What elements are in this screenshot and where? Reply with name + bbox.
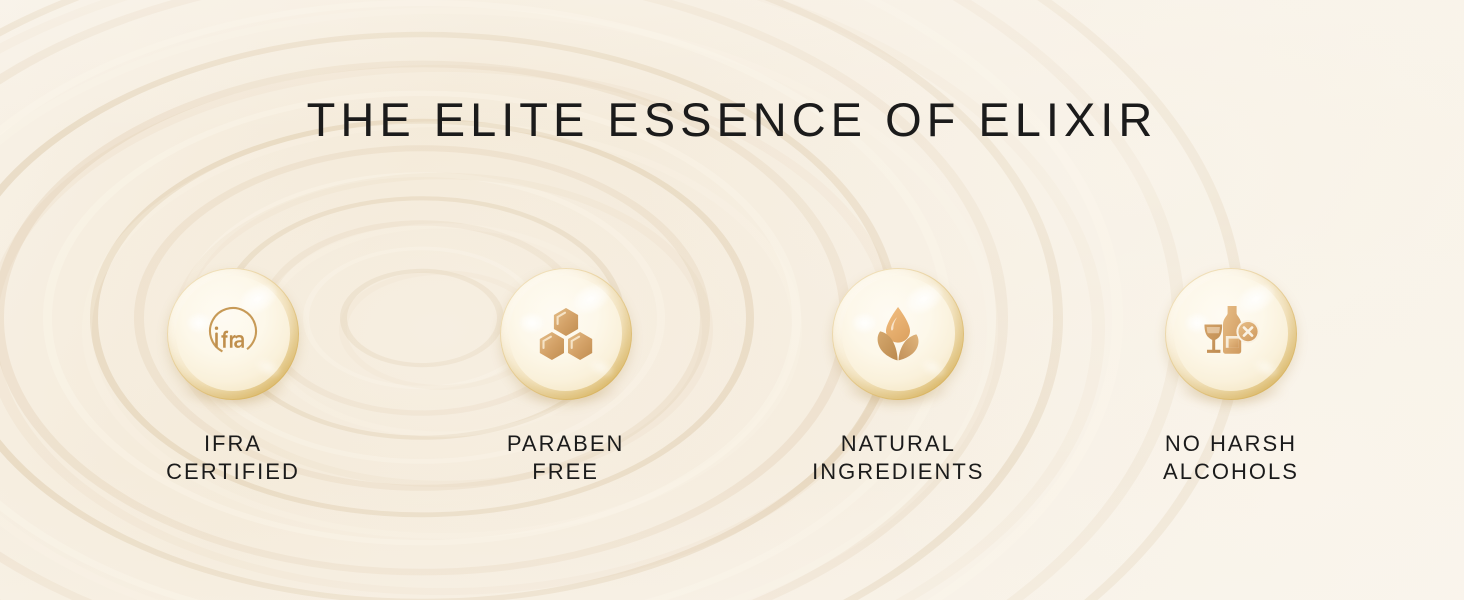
feature-label: PARABEN FREE [507,430,625,486]
feature-item-paraben-free[interactable]: PARABEN FREE [451,268,681,486]
ifra-logo-icon [167,268,299,400]
feature-label: IFRA CERTIFIED [166,430,300,486]
feature-item-no-harsh-alcohols[interactable]: NO HARSH ALCOHOLS [1116,268,1346,486]
feature-item-ifra-certified[interactable]: IFRA CERTIFIED [118,268,348,486]
feature-label: NATURAL INGREDIENTS [812,430,984,486]
feature-label: NO HARSH ALCOHOLS [1163,430,1299,486]
feature-list: IFRA CERTIFIED [118,268,1346,486]
promo-banner: THE ELITE ESSENCE OF ELIXIR [0,0,1464,600]
page-title: THE ELITE ESSENCE OF ELIXIR [0,96,1464,143]
honeycomb-hexagons-icon [500,268,632,400]
no-alcohol-bottle-glass-icon [1165,268,1297,400]
droplet-badge [832,268,964,400]
leaf-droplet-icon [832,268,964,400]
feature-item-natural-ingredients[interactable]: NATURAL INGREDIENTS [783,268,1013,486]
droplet-badge [500,268,632,400]
droplet-badge [167,268,299,400]
droplet-badge [1165,268,1297,400]
